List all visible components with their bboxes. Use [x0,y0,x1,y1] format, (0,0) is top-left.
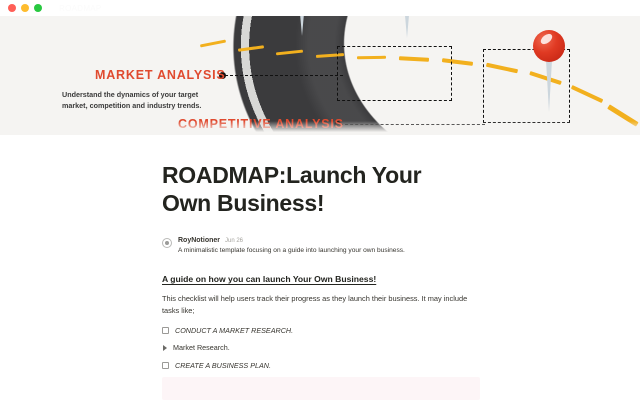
window-close-button[interactable] [8,4,16,12]
cover-body-line: Understand the dynamics of your target [62,89,201,100]
map-pin-needle [404,16,410,38]
intro-paragraph: This checklist will help users track the… [162,293,472,317]
checkbox[interactable] [162,327,169,334]
dashed-region-left [337,46,452,101]
map-pin-primary [533,30,565,116]
cover-bottom-fade [0,121,640,135]
document-body: ROADMAP:Launch Your Own Business! RoyNot… [0,135,640,400]
cover-body-market-analysis: Understand the dynamics of your target m… [62,89,201,111]
checklist-item-label: CREATE A BUSINESS PLAN. [175,361,271,370]
author-name[interactable]: RoyNotioner [178,237,220,244]
checkbox[interactable] [162,362,169,369]
avatar-inner-dot [165,241,169,245]
callout-block[interactable] [162,377,480,400]
section-heading: A guide on how you can launch Your Own B… [162,274,478,284]
window-titlebar: ROADMAP [0,0,640,16]
window-minimize-button[interactable] [21,4,29,12]
cover-body-line: market, competition and industry trends. [62,100,201,111]
checklist-item-label: CONDUCT A MARKET RESEARCH. [175,326,293,335]
checklist-item[interactable]: CONDUCT A MARKET RESEARCH. [162,326,478,335]
window-title: ROADMAP [59,4,102,13]
toggle-item-label: Market Research. [173,343,230,352]
map-pin-left [295,16,309,52]
toggle-item[interactable]: Market Research. [162,343,478,352]
cover-heading-market-analysis: MARKET ANALYSIS [95,68,226,82]
checklist-item[interactable]: CREATE A BUSINESS PLAN. [162,361,478,370]
cover-image: MARKET ANALYSIS Understand the dynamics … [0,16,640,135]
map-pin-middle [400,16,414,54]
chevron-right-icon[interactable] [163,345,167,351]
publish-date: Jun 26 [225,238,243,244]
map-pin-needle [546,60,552,112]
map-pin-head [533,30,565,62]
avatar[interactable] [162,238,172,248]
byline: RoyNotioner Jun 26 A minimalistic templa… [162,237,478,254]
subcaption: A minimalistic template focusing on a gu… [178,247,405,254]
page-title: ROADMAP:Launch Your Own Business! [162,161,422,217]
map-pin-gloss [539,32,554,46]
window-maximize-button[interactable] [34,4,42,12]
connector-line-market [225,75,343,76]
map-pin-needle [299,16,305,36]
